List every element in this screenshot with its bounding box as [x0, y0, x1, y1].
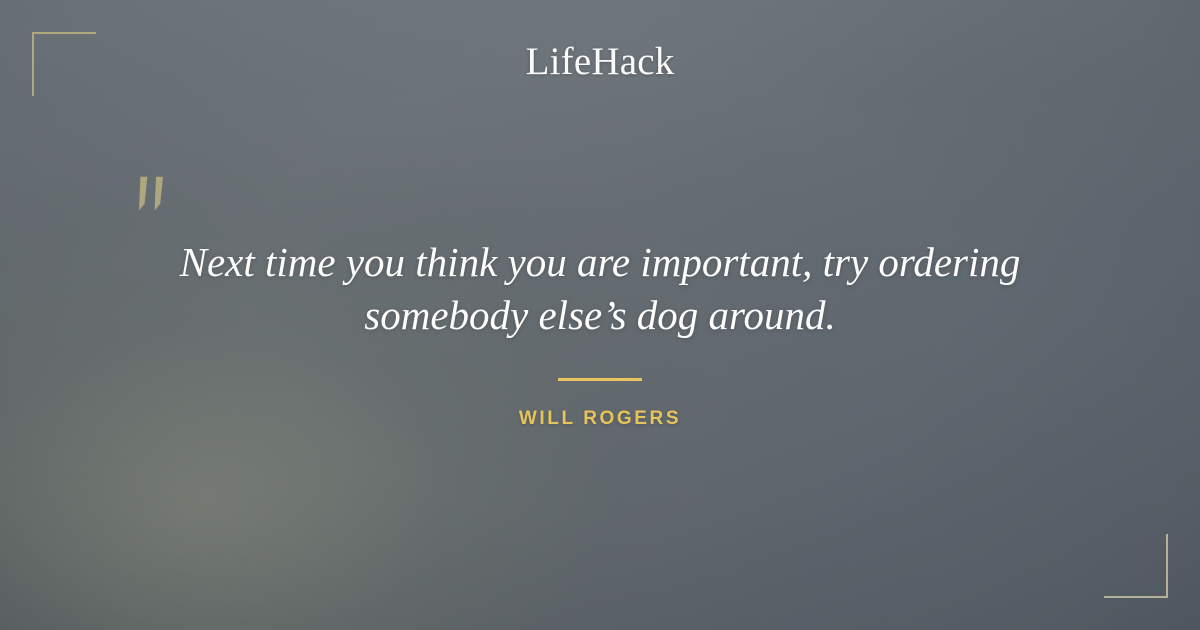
attribution-author: WILL ROGERS	[0, 408, 1200, 430]
quote-block: Next time you think you are important, t…	[0, 236, 1200, 343]
quote-card: LifeHack Next time you think you are imp…	[0, 0, 1200, 630]
corner-bracket-bottom-right-icon	[1104, 534, 1168, 598]
divider-rule	[558, 378, 642, 381]
brand-logo: LifeHack	[0, 39, 1200, 84]
quotation-mark-icon	[133, 176, 175, 216]
attribution-group: WILL ROGERS	[0, 378, 1200, 430]
quote-text: Next time you think you are important, t…	[150, 236, 1050, 343]
